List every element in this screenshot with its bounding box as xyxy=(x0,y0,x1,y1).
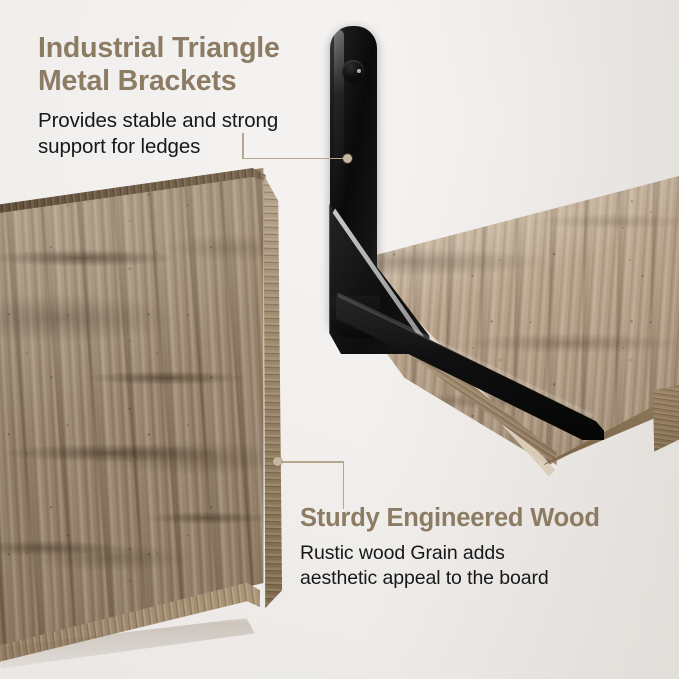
callout-brackets-heading: Industrial TriangleMetal Brackets xyxy=(38,32,348,99)
callout-brackets: Industrial TriangleMetal Brackets Provid… xyxy=(38,32,348,160)
callout-wood: Sturdy Engineered Wood Rustic wood Grain… xyxy=(300,503,672,592)
callout-wood-body: Rustic wood Grain addsaesthetic appeal t… xyxy=(300,541,672,592)
wood-panel-left xyxy=(0,168,292,668)
callout-wood-heading: Sturdy Engineered Wood xyxy=(300,503,672,533)
metal-bracket xyxy=(318,26,618,436)
product-infographic: Industrial TriangleMetal Brackets Provid… xyxy=(0,0,679,679)
callout-brackets-body: Provides stable and strongsupport for le… xyxy=(38,108,348,160)
